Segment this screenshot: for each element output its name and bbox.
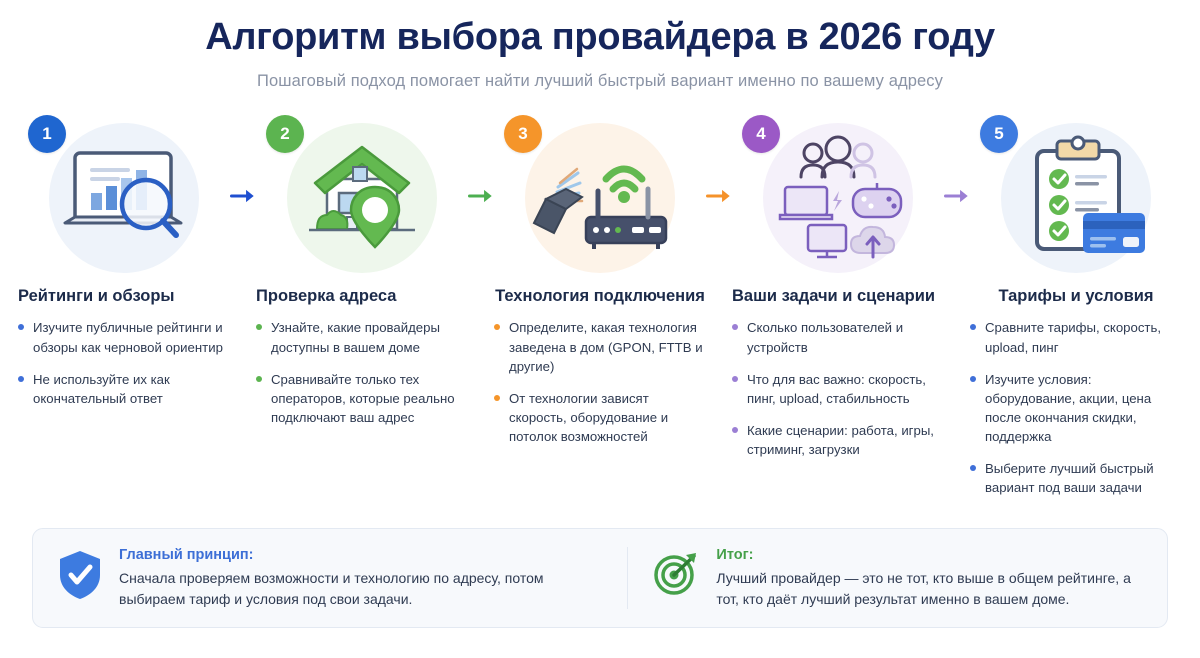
list-item: Сравнивайте только тех операторов, котор… bbox=[256, 370, 468, 427]
step-3-badge: 3 bbox=[504, 115, 542, 153]
step-5-illustration: 5 bbox=[970, 111, 1182, 281]
step-4-illustration: 4 bbox=[732, 111, 944, 281]
result-text: Лучший провайдер — это не тот, кто выше … bbox=[716, 568, 1143, 609]
step-3-bullets: Определите, какая технология заведена в … bbox=[494, 318, 706, 446]
step-2-bullets: Узнайте, какие провайдеры доступны в ваш… bbox=[256, 318, 468, 427]
step-4-badge: 4 bbox=[742, 115, 780, 153]
arrow-right-icon bbox=[706, 185, 732, 207]
house-location-pin-icon bbox=[287, 131, 437, 261]
step-3-number: 3 bbox=[518, 124, 527, 144]
step-5: 5 bbox=[970, 111, 1182, 511]
result-block: Итог: Лучший провайдер — это не тот, кто… bbox=[628, 547, 1167, 609]
list-item: Изучите публичные рейтинги и обзоры как … bbox=[18, 318, 230, 356]
list-item: Определите, какая технология заведена в … bbox=[494, 318, 706, 375]
target-arrow-icon bbox=[652, 549, 700, 597]
step-1-number: 1 bbox=[42, 124, 51, 144]
list-item: Сколько пользователей и устройств bbox=[732, 318, 944, 356]
arrow-1-to-2 bbox=[230, 111, 256, 281]
users-devices-icon bbox=[763, 131, 913, 261]
arrow-right-icon bbox=[230, 185, 256, 207]
principle-block: Главный принцип: Сначала проверяем возмо… bbox=[33, 547, 627, 609]
clipboard-checklist-card-icon bbox=[1001, 131, 1151, 261]
step-2-badge: 2 bbox=[266, 115, 304, 153]
step-3-heading: Технология подключения bbox=[494, 287, 706, 307]
step-2-number: 2 bbox=[280, 124, 289, 144]
list-item: Не используйте их как окончательный отве… bbox=[18, 370, 230, 408]
principle-label: Главный принцип: bbox=[119, 547, 603, 563]
list-item: Сравните тарифы, скорость, upload, пинг bbox=[970, 318, 1182, 356]
shield-check-icon bbox=[57, 549, 103, 601]
fiber-cable-router-wifi-icon bbox=[520, 131, 680, 261]
step-2-illustration: 2 bbox=[256, 111, 468, 281]
step-1: 1 Рейтинги и обзоры Изуч bbox=[18, 111, 230, 421]
step-3-illustration: 3 bbox=[494, 111, 706, 281]
infographic-page: Алгоритм выбора провайдера в 2026 году П… bbox=[0, 0, 1200, 658]
step-4: 4 bbox=[732, 111, 944, 473]
step-1-heading: Рейтинги и обзоры bbox=[18, 287, 230, 307]
list-item: Узнайте, какие провайдеры доступны в ваш… bbox=[256, 318, 468, 356]
arrow-3-to-4 bbox=[706, 111, 732, 281]
step-4-bullets: Сколько пользователей и устройств Что дл… bbox=[732, 318, 944, 459]
step-5-heading: Тарифы и условия bbox=[970, 287, 1182, 307]
page-title: Алгоритм выбора провайдера в 2026 году bbox=[0, 16, 1200, 60]
list-item: Выберите лучший быстрый вариант под ваши… bbox=[970, 459, 1182, 497]
list-item: От технологии зависят скорость, оборудов… bbox=[494, 389, 706, 446]
arrow-2-to-3 bbox=[468, 111, 494, 281]
arrow-right-icon bbox=[944, 185, 970, 207]
step-5-bullets: Сравните тарифы, скорость, upload, пинг … bbox=[970, 318, 1182, 497]
list-item: Изучите условия: оборудование, акции, це… bbox=[970, 370, 1182, 447]
step-1-illustration: 1 bbox=[18, 111, 230, 281]
step-5-number: 5 bbox=[994, 124, 1003, 144]
step-5-badge: 5 bbox=[980, 115, 1018, 153]
page-subtitle: Пошаговый подход помогает найти лучший б… bbox=[0, 72, 1200, 91]
list-item: Что для вас важно: скорость, пинг, uploa… bbox=[732, 370, 944, 408]
header: Алгоритм выбора провайдера в 2026 году П… bbox=[0, 0, 1200, 91]
step-2: 2 Проверка адреса Узнайте, какие провайд… bbox=[256, 111, 468, 441]
arrow-right-icon bbox=[468, 185, 494, 207]
list-item: Какие сценарии: работа, игры, стриминг, … bbox=[732, 421, 944, 459]
step-1-bullets: Изучите публичные рейтинги и обзоры как … bbox=[18, 318, 230, 408]
summary-panel: Главный принцип: Сначала проверяем возмо… bbox=[32, 528, 1168, 628]
arrow-4-to-5 bbox=[944, 111, 970, 281]
steps-row: 1 Рейтинги и обзоры Изуч bbox=[0, 111, 1200, 511]
step-2-heading: Проверка адреса bbox=[256, 287, 468, 307]
step-3: 3 bbox=[494, 111, 706, 460]
laptop-chart-magnifier-icon bbox=[49, 131, 199, 261]
principle-text: Сначала проверяем возможности и технолог… bbox=[119, 568, 603, 609]
result-label: Итог: bbox=[716, 547, 1143, 563]
step-1-badge: 1 bbox=[28, 115, 66, 153]
step-4-heading: Ваши задачи и сценарии bbox=[732, 287, 944, 307]
step-4-number: 4 bbox=[756, 124, 765, 144]
